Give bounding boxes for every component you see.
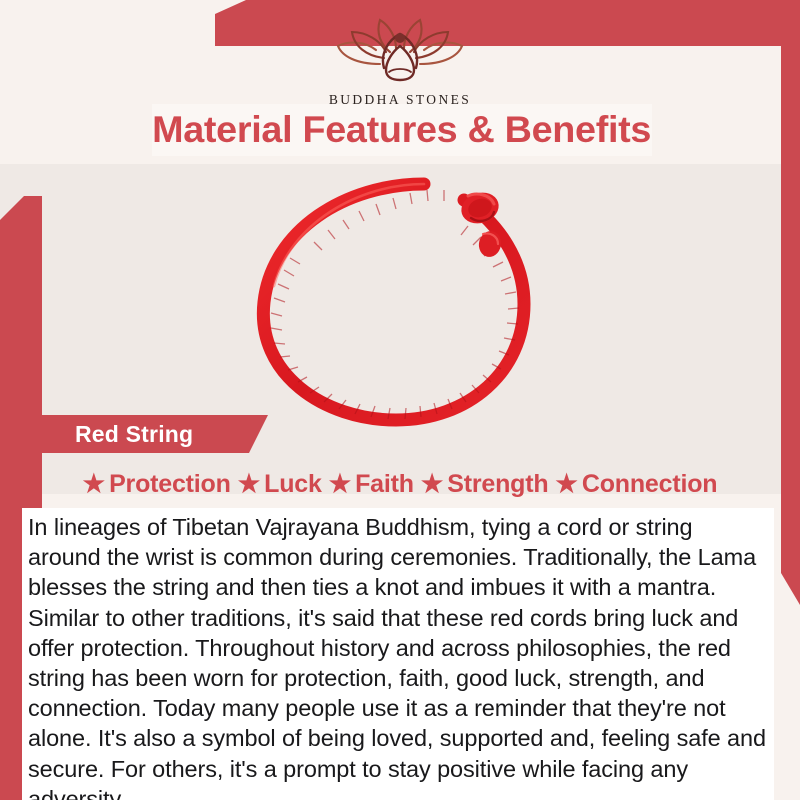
material-features-poster: BUDDHA STONES Material Features & Benefi… bbox=[0, 0, 800, 800]
page-title: Material Features & Benefits bbox=[152, 109, 651, 151]
feature-label: Connection bbox=[582, 470, 718, 499]
lotus-meditation-icon bbox=[334, 12, 466, 89]
star-icon: ★ bbox=[83, 472, 105, 497]
feature-label: Protection bbox=[109, 470, 231, 499]
description-text: In lineages of Tibetan Vajrayana Buddhis… bbox=[28, 512, 768, 800]
feature-item-faith: ★ Faith bbox=[329, 470, 414, 499]
star-icon: ★ bbox=[238, 472, 260, 497]
feature-label: Strength bbox=[447, 470, 548, 499]
feature-item-protection: ★ Protection bbox=[83, 470, 231, 499]
product-image-red-string-bracelet bbox=[228, 166, 576, 438]
star-icon: ★ bbox=[555, 472, 577, 497]
description-block: In lineages of Tibetan Vajrayana Buddhis… bbox=[22, 508, 774, 800]
feature-label: Faith bbox=[355, 470, 414, 499]
feature-item-connection: ★ Connection bbox=[555, 470, 717, 499]
page-title-plate: Material Features & Benefits bbox=[152, 104, 652, 156]
section-banner-label: Red String bbox=[75, 421, 193, 448]
feature-label: Luck bbox=[264, 470, 322, 499]
star-icon: ★ bbox=[329, 472, 351, 497]
feature-item-strength: ★ Strength bbox=[421, 470, 549, 499]
section-banner: Red String bbox=[20, 415, 268, 453]
star-icon: ★ bbox=[421, 472, 443, 497]
feature-list: ★ Protection ★ Luck ★ Faith ★ Strength ★… bbox=[28, 464, 772, 504]
feature-item-luck: ★ Luck bbox=[238, 470, 322, 499]
brand-logo: BUDDHA STONES bbox=[0, 12, 800, 108]
